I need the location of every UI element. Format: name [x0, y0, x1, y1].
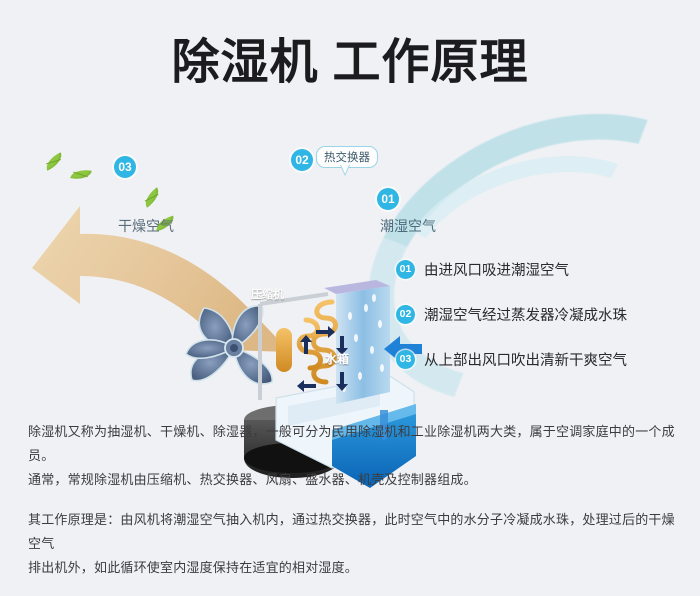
dry-air-label: 干燥空气 — [118, 216, 174, 236]
description-p2-line1: 其工作原理是：由风机将潮湿空气抽入机内，通过热交换器，此时空气中的水分子冷凝成水… — [28, 512, 675, 551]
step-text: 由进风口吸进潮湿空气 — [424, 259, 569, 280]
list-item: 02 潮湿空气经过蒸发器冷凝成水珠 — [396, 303, 686, 325]
steps-list: 01 由进风口吸进潮湿空气 02 潮湿空气经过蒸发器冷凝成水珠 03 从上部出风… — [396, 258, 686, 393]
page-title: 除湿机工作原理 — [0, 34, 700, 92]
diagram-badge-01: 01 — [377, 188, 399, 210]
diagram-badge-02: 02 — [291, 149, 313, 171]
step-text: 从上部出风口吹出清新干爽空气 — [424, 349, 627, 370]
description-p2-line2: 排出机外，如此循环使室内湿度保持在适宜的相对湿度。 — [28, 560, 358, 575]
description-paragraph-2: 其工作原理是：由风机将潮湿空气抽入机内，通过热交换器，此时空气中的水分子冷凝成水… — [28, 508, 678, 580]
humid-air-label: 潮湿空气 — [380, 216, 436, 236]
page-title-part2: 工作原理 — [333, 36, 529, 89]
step-badge: 03 — [396, 350, 415, 369]
description-p1-line1: 除湿机又称为抽湿机、干燥机、除湿器，一般可分为民用除湿机和工业除湿机两大类，属于… — [28, 424, 675, 463]
list-item: 01 由进风口吸进潮湿空气 — [396, 258, 686, 280]
list-item: 03 从上部出风口吹出清新干爽空气 — [396, 348, 686, 370]
step-badge: 01 — [396, 260, 415, 279]
compressor-icon — [276, 328, 292, 372]
compressor-label: 压缩机 — [251, 286, 284, 302]
page-title-part1: 除湿机 — [171, 36, 318, 89]
water-tank-label: 水箱 — [325, 350, 349, 367]
step-badge: 02 — [396, 305, 415, 324]
description-block: 除湿机又称为抽湿机、干燥机、除湿器，一般可分为民用除湿机和工业除湿机两大类，属于… — [28, 420, 678, 596]
step-text: 潮湿空气经过蒸发器冷凝成水珠 — [424, 304, 627, 325]
description-paragraph-1: 除湿机又称为抽湿机、干燥机、除湿器，一般可分为民用除湿机和工业除湿机两大类，属于… — [28, 420, 678, 492]
callout-tail — [340, 165, 350, 176]
infographic-page: 除湿机工作原理 — [0, 0, 700, 566]
leaf-icon — [43, 152, 66, 170]
description-p1-line2: 通常，常规除湿机由压缩机、热交换器、风扇、盛水器、机壳及控制器组成。 — [28, 472, 477, 487]
diagram-badge-03: 03 — [114, 156, 136, 178]
